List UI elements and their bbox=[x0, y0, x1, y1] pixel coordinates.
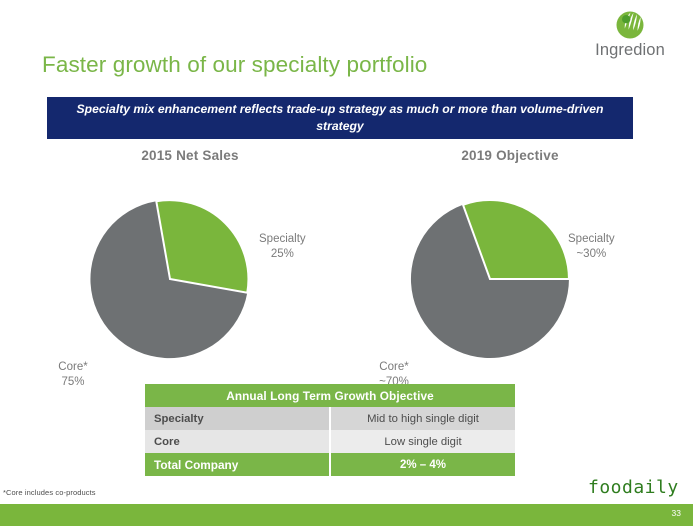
pie-wrap-2019: Specialty ~30% Core* ~70% bbox=[350, 174, 670, 369]
table-cell-value-core: Low single digit bbox=[330, 430, 515, 453]
pie-label-specialty-2019: Specialty ~30% bbox=[568, 232, 615, 262]
page-number: 33 bbox=[672, 508, 681, 518]
pie-label-specialty-2015-value: 25% bbox=[259, 247, 306, 262]
pie-slice-specialty-2015 bbox=[156, 200, 248, 293]
chart-title-2019: 2019 Objective bbox=[350, 148, 670, 163]
pie-chart-2015 bbox=[30, 174, 350, 369]
chart-title-2015: 2015 Net Sales bbox=[30, 148, 350, 163]
ingredion-leaf-mark bbox=[613, 6, 647, 40]
table-cell-label-core: Core bbox=[145, 430, 330, 453]
chart-2019-objective: 2019 Objective Specialty ~30% Core* ~70% bbox=[350, 148, 670, 373]
chart-2015-net-sales: 2015 Net Sales Specialty 25% Core* 75% bbox=[30, 148, 350, 373]
logo-wordmark: Ingredion bbox=[578, 40, 682, 60]
banner-text: Specialty mix enhancement reflects trade… bbox=[63, 101, 617, 135]
table-header-row: Annual Long Term Growth Objective bbox=[145, 384, 515, 407]
pie-label-specialty-2015-name: Specialty bbox=[259, 233, 306, 245]
table-row: Core Low single digit bbox=[145, 430, 515, 453]
footnote: *Core includes co-products bbox=[3, 488, 96, 497]
table-total-row: Total Company 2% – 4% bbox=[145, 453, 515, 476]
pie-label-core-2015-value: 75% bbox=[61, 376, 84, 388]
ingredion-logo: Ingredion bbox=[578, 6, 682, 68]
pie-wrap-2015: Specialty 25% Core* 75% bbox=[30, 174, 350, 369]
table-cell-value-specialty: Mid to high single digit bbox=[330, 407, 515, 430]
pie-label-specialty-2019-value: ~30% bbox=[568, 247, 615, 262]
table-cell-value-total: 2% – 4% bbox=[330, 453, 515, 476]
table-header-cell: Annual Long Term Growth Objective bbox=[145, 384, 515, 407]
foodaily-watermark: foodaily bbox=[588, 477, 679, 498]
pie-label-specialty-2015: Specialty 25% bbox=[259, 232, 306, 262]
pie-label-core-2015-name: Core* bbox=[58, 361, 87, 373]
table-cell-label-total: Total Company bbox=[145, 453, 330, 476]
table-row: Specialty Mid to high single digit bbox=[145, 407, 515, 430]
table-cell-label-specialty: Specialty bbox=[145, 407, 330, 430]
growth-objective-table: Annual Long Term Growth Objective Specia… bbox=[145, 384, 515, 476]
pie-label-specialty-2019-name: Specialty bbox=[568, 233, 615, 245]
slide-canvas: Ingredion Faster growth of our specialty… bbox=[0, 0, 693, 526]
pie-label-core-2019-name: Core* bbox=[379, 361, 408, 373]
key-message-banner: Specialty mix enhancement reflects trade… bbox=[47, 97, 633, 139]
page-title: Faster growth of our specialty portfolio bbox=[42, 52, 427, 78]
pie-chart-2019 bbox=[350, 174, 670, 369]
pie-label-core-2015: Core* 75% bbox=[43, 360, 103, 390]
footer-bar: 33 bbox=[0, 504, 693, 526]
